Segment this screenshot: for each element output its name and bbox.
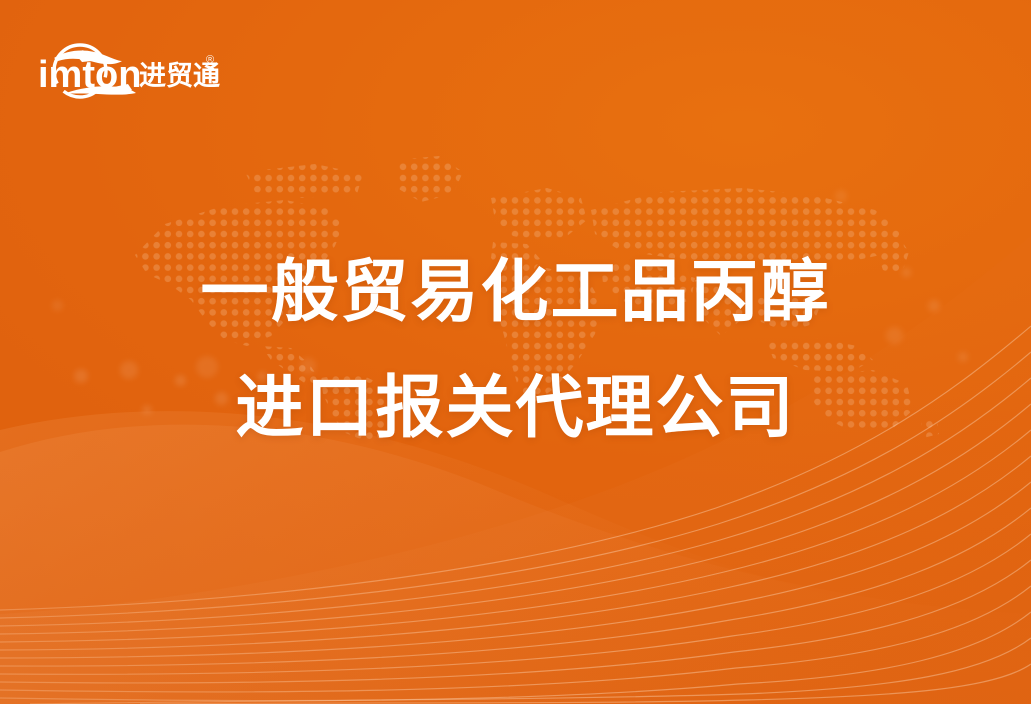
logo-wordmark: imton	[38, 54, 141, 96]
promotional-banner: imton 进贸通 ® 一般贸易化工品丙醇 进口报关代理公司	[0, 0, 1031, 704]
headline-line-2: 进口报关代理公司	[0, 374, 1031, 442]
headline: 一般贸易化工品丙醇 进口报关代理公司	[0, 258, 1031, 442]
trademark-symbol: ®	[206, 54, 214, 66]
company-logo[interactable]: imton 进贸通 ®	[36, 27, 221, 103]
headline-line-1: 一般贸易化工品丙醇	[0, 258, 1031, 326]
